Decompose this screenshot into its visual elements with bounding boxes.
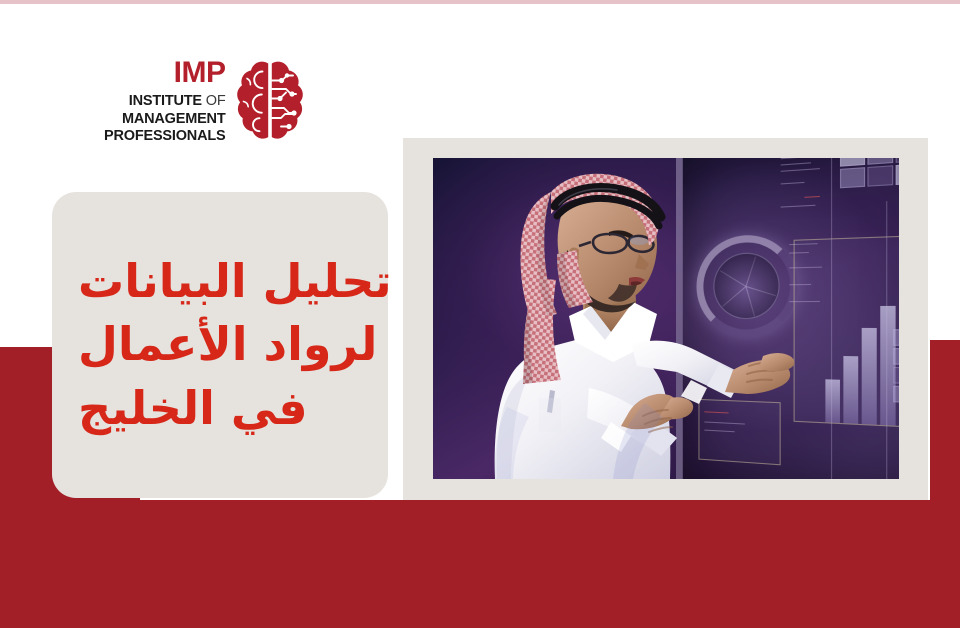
red-band-right: [930, 340, 960, 505]
logo-line-professionals: PROFESSIONALS: [104, 129, 225, 144]
hero-photo: [433, 158, 899, 479]
logo-acronym: IMP: [104, 58, 225, 88]
logo-institute-text: INSTITUTE: [129, 93, 202, 109]
logo-of-text: OF: [206, 93, 226, 109]
headline-card: تحليل البيانات لرواد الأعمال في الخليج: [52, 192, 388, 498]
imp-logo[interactable]: IMP INSTITUTE OF MANAGEMENT PROFESSIONAL…: [104, 58, 305, 144]
headline-line-1: تحليل البيانات: [78, 251, 392, 312]
person-illustration: [433, 158, 899, 479]
logo-line-institute-of: INSTITUTE OF: [104, 94, 225, 109]
top-accent-strip: [0, 0, 960, 4]
logo-wordmark: IMP INSTITUTE OF MANAGEMENT PROFESSIONAL…: [104, 58, 225, 144]
headline-line-2: لرواد الأعمال: [78, 314, 377, 375]
photo-frame: [403, 138, 928, 500]
poster-canvas: IMP INSTITUTE OF MANAGEMENT PROFESSIONAL…: [0, 0, 960, 628]
red-band-bottom: [0, 500, 960, 628]
headline-line-3: في الخليج: [78, 378, 308, 439]
logo-line-management: MANAGEMENT: [104, 112, 225, 127]
brain-circuit-logo-icon: [235, 58, 305, 144]
